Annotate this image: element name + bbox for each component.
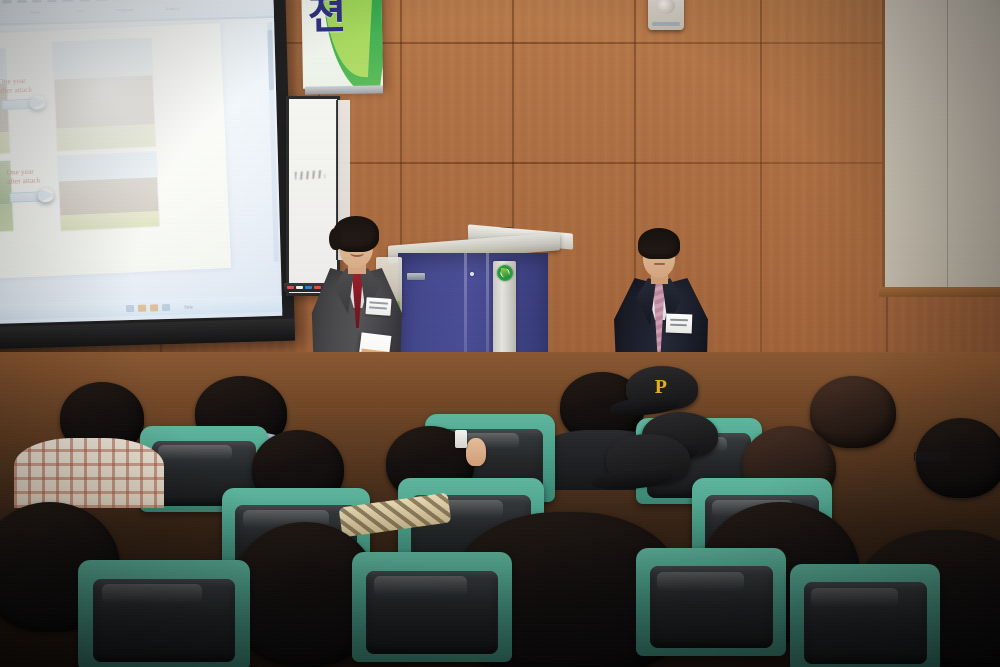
- mobile-phone[interactable]: [455, 430, 467, 448]
- audience-raised-hand: [466, 438, 486, 466]
- ribbon-group-label-font: Font: [76, 9, 84, 13]
- lectern-control-knob[interactable]: [470, 272, 474, 276]
- transition-arrow-icon-top: [1, 95, 48, 111]
- slide-caption-bottom-line2: after attack: [7, 175, 61, 187]
- lectern-plaque: [407, 273, 425, 280]
- speaker-right-hair: [638, 228, 680, 259]
- event-banner: 젼: [301, 0, 383, 89]
- slide-photo-after-top: [53, 38, 156, 150]
- speaker-left-name-badge: [365, 297, 391, 316]
- audience-head: [810, 376, 896, 448]
- whiteboard-handwriting: [295, 170, 325, 180]
- banner-bottom-rail: [305, 85, 383, 94]
- slide-photo-after-bottom: [58, 152, 159, 230]
- audience-seat[interactable]: [78, 560, 250, 667]
- banner-korean-character: 젼: [307, 0, 346, 42]
- view-reading-button[interactable]: [150, 304, 158, 311]
- presentation-slide: One year after attack One year after att…: [0, 23, 231, 280]
- audience-shoulders: [14, 438, 164, 508]
- slide-caption-top: One year after attack: [0, 75, 53, 96]
- speaker-left-hair: [333, 216, 379, 252]
- projection-screen-surface: Clipboard Slides Font Paragraph Drawing: [0, 0, 282, 324]
- auditorium-scene-photo: Clipboard Slides Font Paragraph Drawing: [0, 0, 1000, 667]
- baseball-cap: P: [626, 366, 698, 410]
- ribbon-group-label-slides: Slides: [30, 10, 41, 14]
- view-slideshow-button[interactable]: [162, 303, 170, 310]
- audience-area: P: [0, 352, 1000, 667]
- status-bar-label: Slide: [184, 304, 193, 309]
- slide-caption-bottom: One year after attack: [6, 165, 61, 186]
- speaker-right-name-badge: [666, 314, 693, 334]
- ribbon-group-label-drawing: Drawing: [166, 7, 180, 11]
- acoustic-panel-trim: [879, 287, 1000, 297]
- speaker-right-mouth: [654, 263, 665, 265]
- audience-glasses-icon: [914, 452, 950, 461]
- slide-scrollbar[interactable]: [267, 22, 279, 262]
- acoustic-wall-panel: [882, 0, 1000, 290]
- transition-arrow-icon-bottom: [9, 188, 56, 204]
- ribbon-group-label-paragraph: Paragraph: [116, 8, 134, 12]
- presentation-status-bar[interactable]: Slide: [0, 292, 282, 321]
- projection-screen: Clipboard Slides Font Paragraph Drawing: [0, 0, 295, 349]
- audience-seat[interactable]: [636, 548, 786, 656]
- audience-seat[interactable]: [352, 552, 512, 662]
- wall-speaker-icon: [648, 0, 684, 30]
- audience-seat[interactable]: [790, 564, 940, 667]
- lectern-emblem-icon: [497, 265, 513, 281]
- baseball-cap: [606, 434, 690, 484]
- view-sorter-button[interactable]: [138, 304, 146, 311]
- view-normal-button[interactable]: [126, 304, 134, 311]
- cap-logo-letter: P: [655, 377, 667, 397]
